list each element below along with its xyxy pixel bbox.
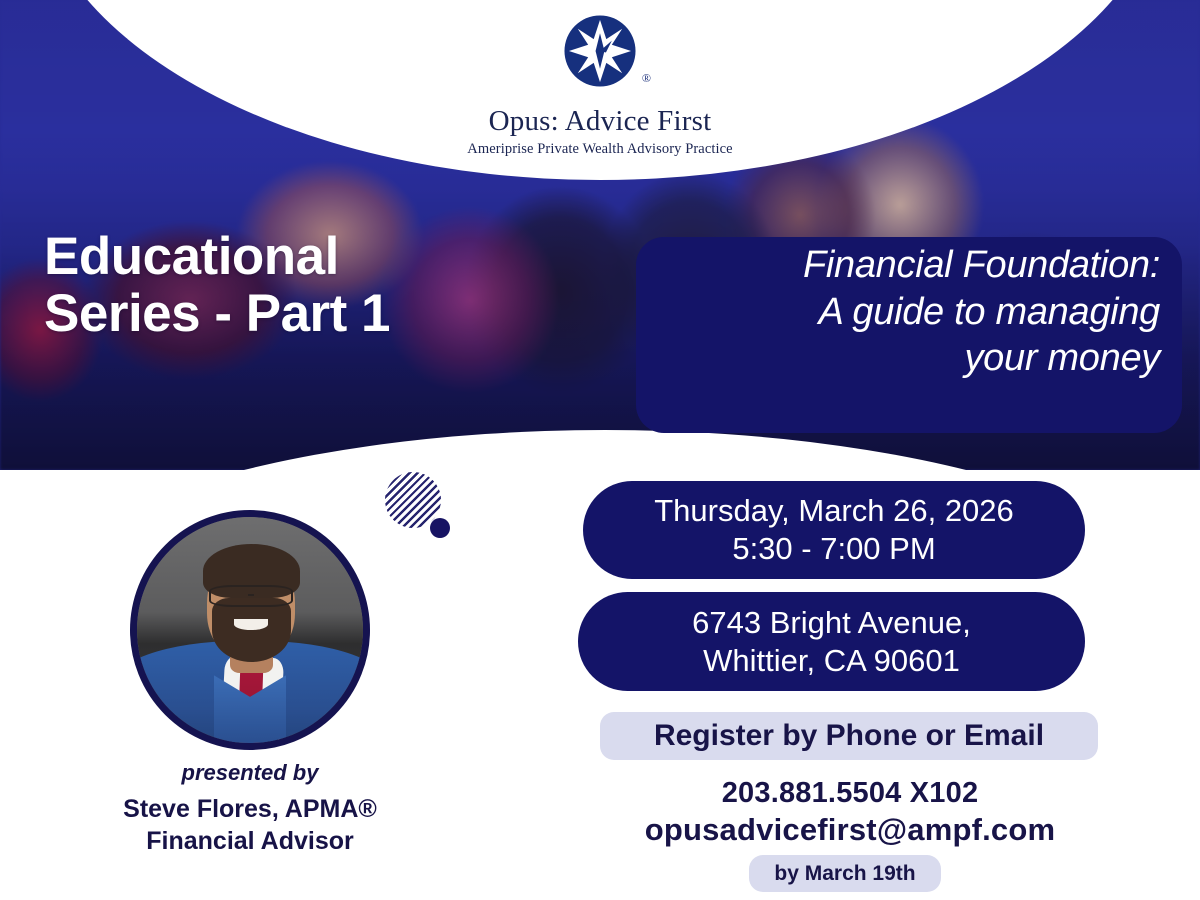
presenter-role: Financial Advisor: [40, 825, 460, 857]
hero-subtitle-line-3: your money: [658, 335, 1160, 382]
hero-subtitle-line-2: A guide to managing: [658, 289, 1160, 336]
dot-icon: [430, 518, 450, 538]
brand-logo-block: ® Opus: Advice First Ameriprise Private …: [0, 14, 1200, 158]
presented-by-label: presented by: [60, 760, 440, 786]
presenter-name: Steve Flores, APMA®: [40, 793, 460, 825]
register-deadline-badge: by March 19th: [749, 855, 941, 892]
hero-title: Educational Series - Part 1: [44, 228, 390, 342]
presenter-details: Steve Flores, APMA® Financial Advisor: [40, 793, 460, 857]
hero-title-line-2: Series - Part 1: [44, 285, 390, 342]
event-address-line-2: Whittier, CA 90601: [692, 642, 971, 680]
headshot-glasses: [209, 585, 293, 608]
register-phone[interactable]: 203.881.5504 X102: [560, 777, 1140, 810]
brand-tagline: Ameriprise Private Wealth Advisory Pract…: [0, 141, 1200, 158]
event-address-line-1: 6743 Bright Avenue,: [692, 604, 971, 642]
event-time: 5:30 - 7:00 PM: [654, 530, 1014, 568]
register-cta-badge[interactable]: Register by Phone or Email: [600, 712, 1098, 760]
hero-subtitle-line-1: Financial Foundation:: [658, 242, 1160, 289]
event-date: Thursday, March 26, 2026: [654, 492, 1014, 530]
hero-subtitle: Financial Foundation: A guide to managin…: [636, 242, 1182, 382]
event-flyer: ® Opus: Advice First Ameriprise Private …: [0, 0, 1200, 900]
register-email[interactable]: opusadvicefirst@ampf.com: [560, 812, 1140, 848]
presenter-headshot: [130, 510, 370, 750]
event-date-pill: Thursday, March 26, 2026 5:30 - 7:00 PM: [583, 481, 1085, 579]
hero-title-line-1: Educational: [44, 228, 390, 285]
headshot-beard: [212, 598, 291, 661]
brand-name: Opus: Advice First: [0, 105, 1200, 138]
registered-trademark-icon: ®: [642, 71, 651, 86]
ameriprise-star-icon: ®: [563, 14, 637, 88]
event-address-pill: 6743 Bright Avenue, Whittier, CA 90601: [578, 592, 1085, 691]
headshot-smile: [234, 619, 268, 630]
